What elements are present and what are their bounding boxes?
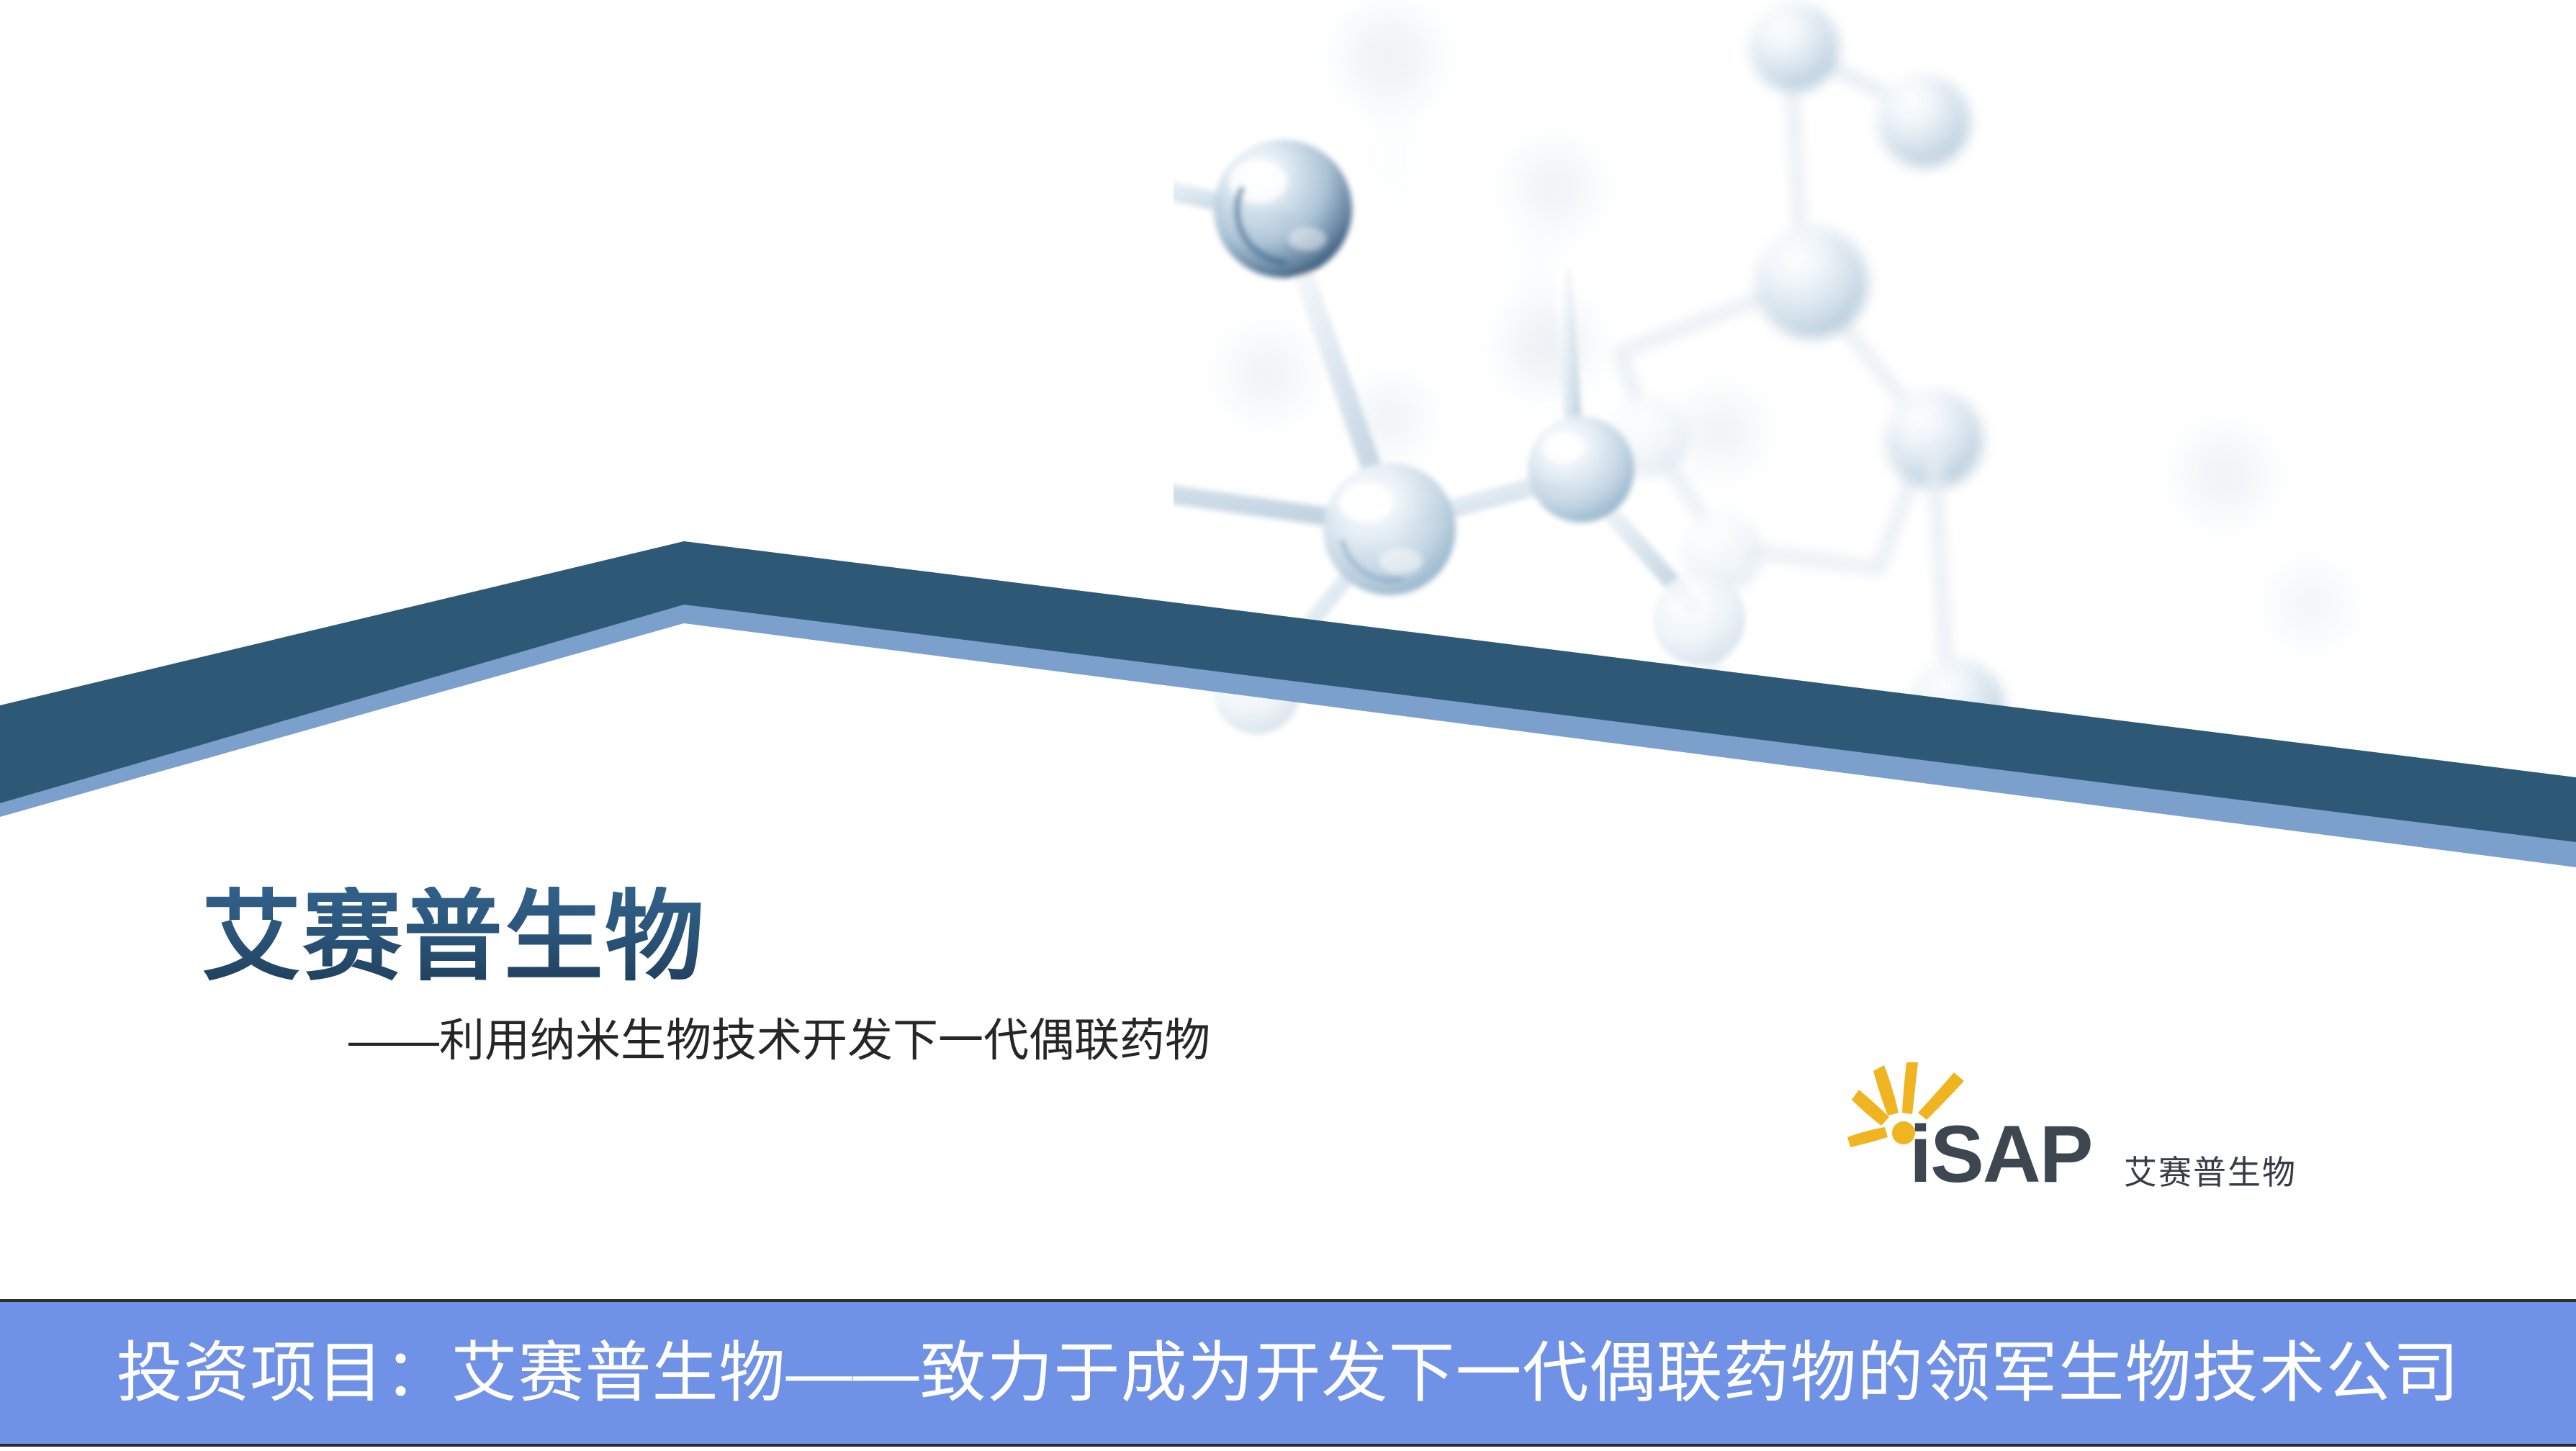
- chevron-dark-band: [0, 541, 2576, 842]
- bottom-banner: 投资项目：艾赛普生物——致力于成为开发下一代偶联药物的领军生物技术公司: [0, 1299, 2576, 1447]
- banner-text: 投资项目：艾赛普生物——致力于成为开发下一代偶联药物的领军生物技术公司: [116, 1340, 2459, 1406]
- slide-canvas: 艾赛普生物 ——利用纳米生物技术开发下一代偶联药物: [0, 0, 2576, 1451]
- title-block: 艾赛普生物 ——利用纳米生物技术开发下一代偶联药物: [202, 887, 1498, 1066]
- page-subtitle: ——利用纳米生物技术开发下一代偶联药物: [202, 1016, 1498, 1067]
- molecule-artwork-image: [1174, 0, 2576, 763]
- page-title: 艾赛普生物: [202, 887, 1498, 988]
- logo-chinese-name: 艾赛普生物: [2124, 1156, 2297, 1189]
- chevron-divider: [0, 489, 2576, 950]
- company-logo: iSAP 艾赛普生物: [1843, 1058, 2246, 1195]
- chevron-light-band: [0, 556, 2576, 867]
- logo-wordmark: iSAP: [1909, 1114, 2091, 1195]
